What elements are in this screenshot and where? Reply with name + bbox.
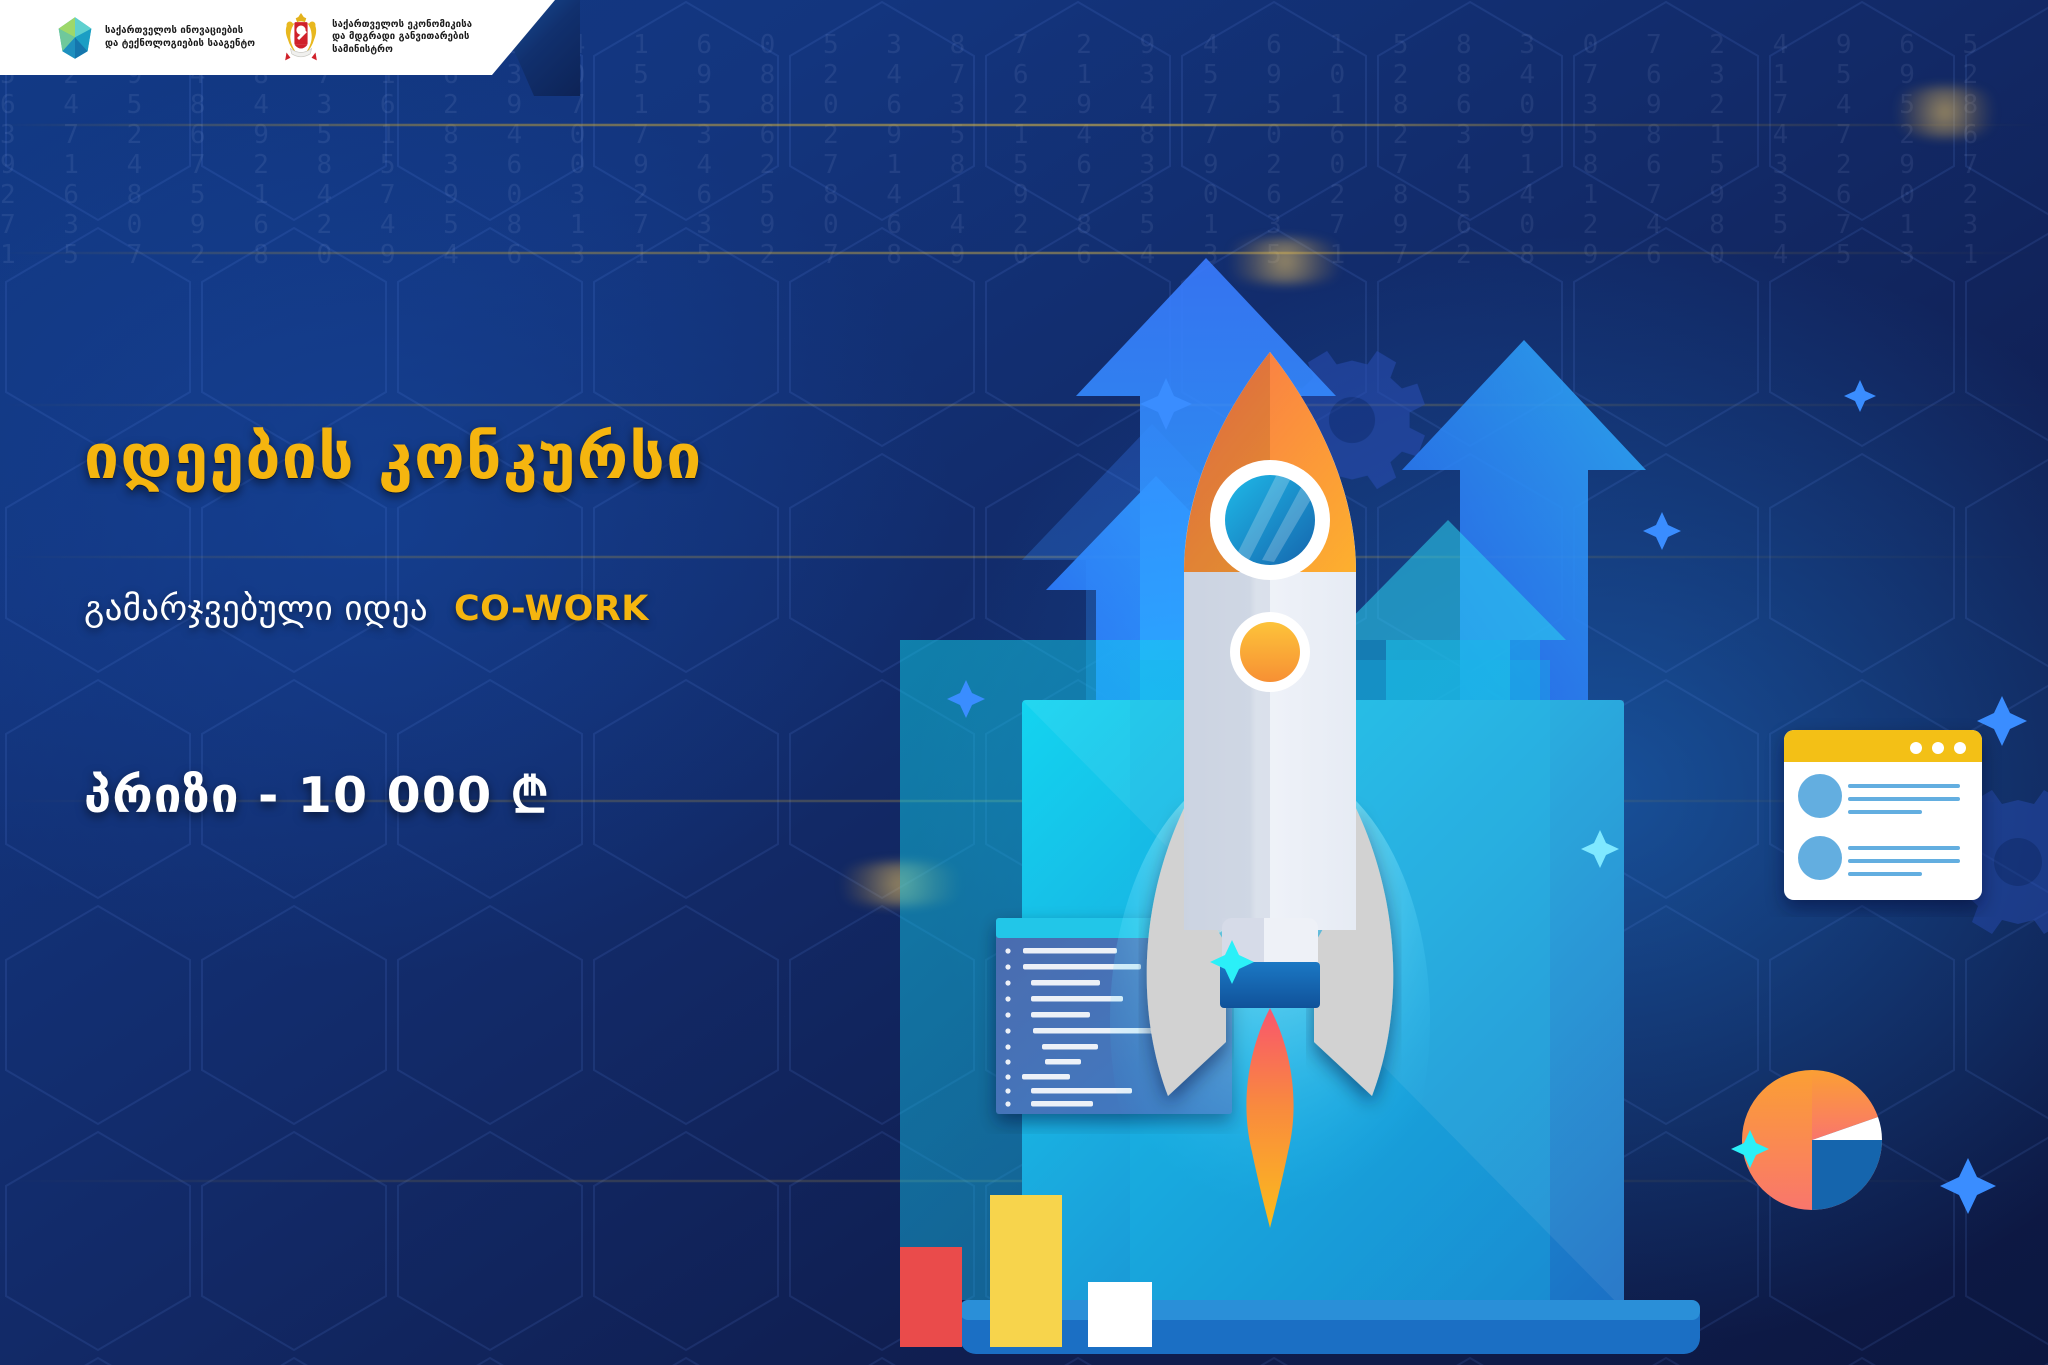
winning-idea-brand: CO-WORK (454, 589, 649, 629)
ministry-logo-text: საქართველოს ეკონომიკისა და მდგრადი განვი… (332, 19, 472, 57)
pie-chart-icon (1742, 1070, 1882, 1210)
georgia-coat-of-arms-icon (281, 9, 321, 67)
gem-icon (56, 16, 94, 60)
hero-illustration (900, 0, 2048, 1365)
poster-canvas: 4 8 6 3 5 8 2 7 9 4 1 6 0 5 3 8 7 2 9 4 … (0, 0, 2048, 1365)
winning-idea-label: გამარჯვებული იდეა (84, 589, 428, 629)
page-title: იდეების კონკურსი (84, 420, 984, 493)
text-block: იდეების კონკურსი გამარჯვებული იდეაCO-WOR… (84, 420, 984, 827)
gita-logo-text: საქართველოს ინოვაციების და ტექნოლოგიების… (105, 25, 255, 50)
ministry-logo: საქართველოს ეკონომიკისა და მდგრადი განვი… (281, 9, 472, 67)
winning-idea-line: გამარჯვებული იდეაCO-WORK (84, 589, 984, 629)
prize-amount: პრიზი - 10 000 ₾ (84, 761, 984, 827)
gita-logo: საქართველოს ინოვაციების და ტექნოლოგიების… (56, 16, 255, 60)
browser-card (1784, 730, 1982, 900)
header-bar: საქართველოს ინოვაციების და ტექნოლოგიების… (0, 0, 555, 75)
